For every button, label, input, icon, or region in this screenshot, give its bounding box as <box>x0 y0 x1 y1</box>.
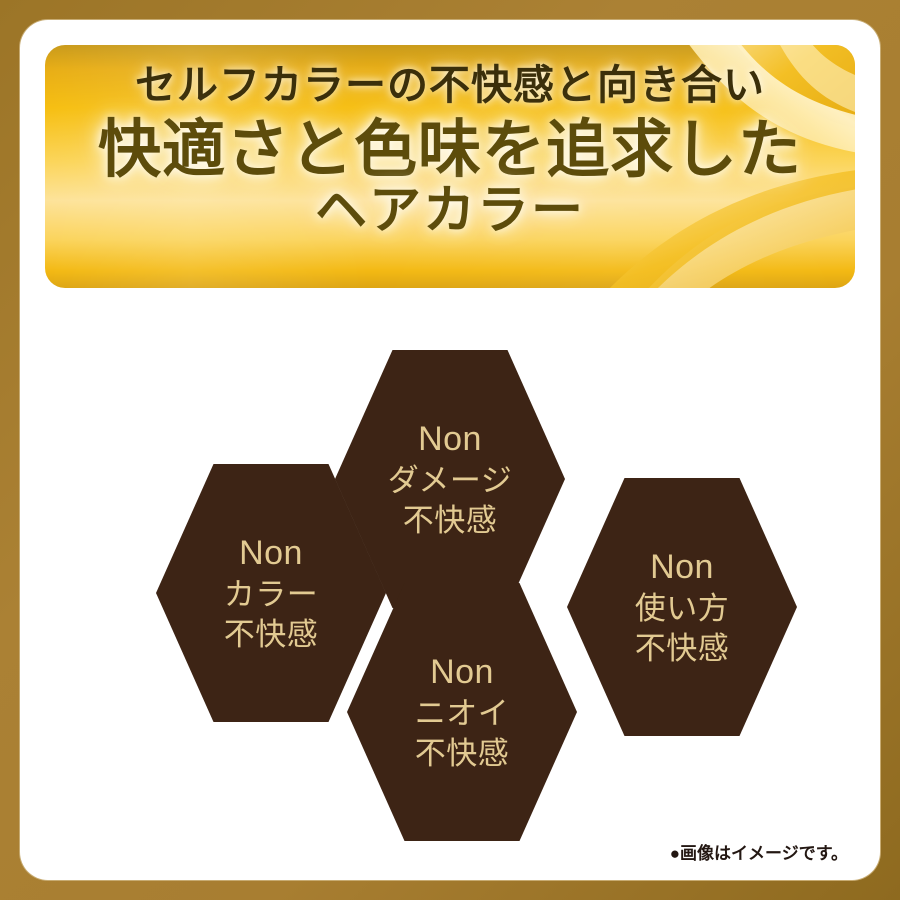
poster-root: セルフカラーの不快感と向き合い 快適さと色味を追求した ヘアカラー Non ダメ… <box>0 0 900 900</box>
hexagon-cluster: Non ダメージ 不快感 Non カラー 不快感 Non 使い方 不快感 Non… <box>22 288 878 878</box>
banner-subheadline: セルフカラーの不快感と向き合い <box>135 63 765 109</box>
banner-headline-line2: ヘアカラー <box>315 184 585 239</box>
hexagon-non-smell-line1: Non <box>430 651 494 695</box>
banner-text-block: セルフカラーの不快感と向き合い 快適さと色味を追求した ヘアカラー <box>45 45 855 288</box>
hexagon-non-damage-line2: ダメージ <box>388 461 512 501</box>
hexagon-non-color-line3: 不快感 <box>224 615 319 655</box>
banner-headline-line1: 快適さと色味を追求した <box>98 116 802 182</box>
image-disclaimer-note: ●画像はイメージです。 <box>670 839 848 864</box>
hexagon-non-smell-line2: ニオイ <box>415 694 510 734</box>
hexagon-non-smell: Non ニオイ 不快感 <box>347 583 577 841</box>
gold-banner: セルフカラーの不快感と向き合い 快適さと色味を追求した ヘアカラー <box>45 45 855 288</box>
hexagon-non-usage-line3: 不快感 <box>635 629 730 669</box>
hexagon-non-usage: Non 使い方 不快感 <box>567 478 797 736</box>
hexagon-non-smell-line3: 不快感 <box>415 734 510 774</box>
inner-white-panel: セルフカラーの不快感と向き合い 快適さと色味を追求した ヘアカラー Non ダメ… <box>22 22 878 878</box>
hexagon-non-usage-line2: 使い方 <box>635 589 730 629</box>
hexagon-non-color-line2: カラー <box>224 575 319 615</box>
hexagon-non-usage-line1: Non <box>650 546 714 590</box>
hexagon-non-color-line1: Non <box>239 532 303 576</box>
hexagon-non-damage-line3: 不快感 <box>403 501 498 541</box>
hexagon-non-damage-line1: Non <box>418 418 482 462</box>
